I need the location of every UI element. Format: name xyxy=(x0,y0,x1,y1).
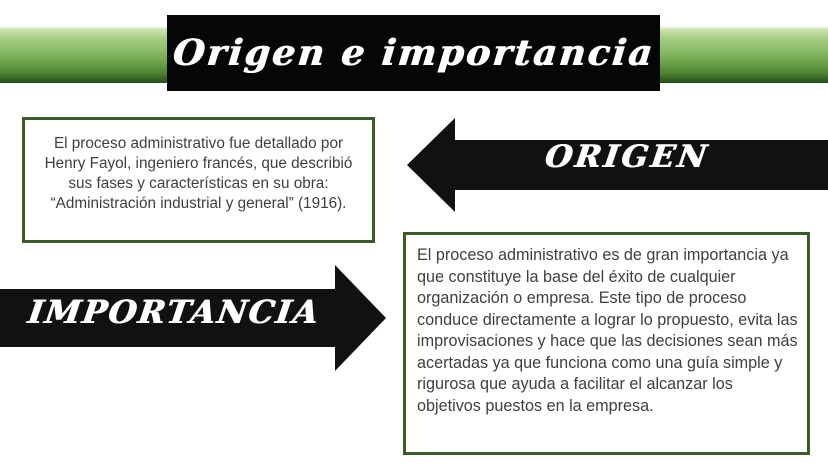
page-title: Origen e importancia xyxy=(171,32,657,74)
importancia-arrow-label: IMPORTANCIA xyxy=(25,293,322,331)
importancia-body-text: El proceso administrativo es de gran imp… xyxy=(417,246,798,415)
origen-body-text: El proceso administrativo fue detallado … xyxy=(45,135,353,212)
slide-canvas: Origen e importancia El proceso administ… xyxy=(0,0,828,466)
importancia-text-box: El proceso administrativo es de gran imp… xyxy=(403,232,810,455)
origen-arrow-label: ORIGEN xyxy=(542,139,711,175)
origen-text-box: El proceso administrativo fue detallado … xyxy=(22,117,375,243)
title-plate: Origen e importancia xyxy=(167,15,660,91)
